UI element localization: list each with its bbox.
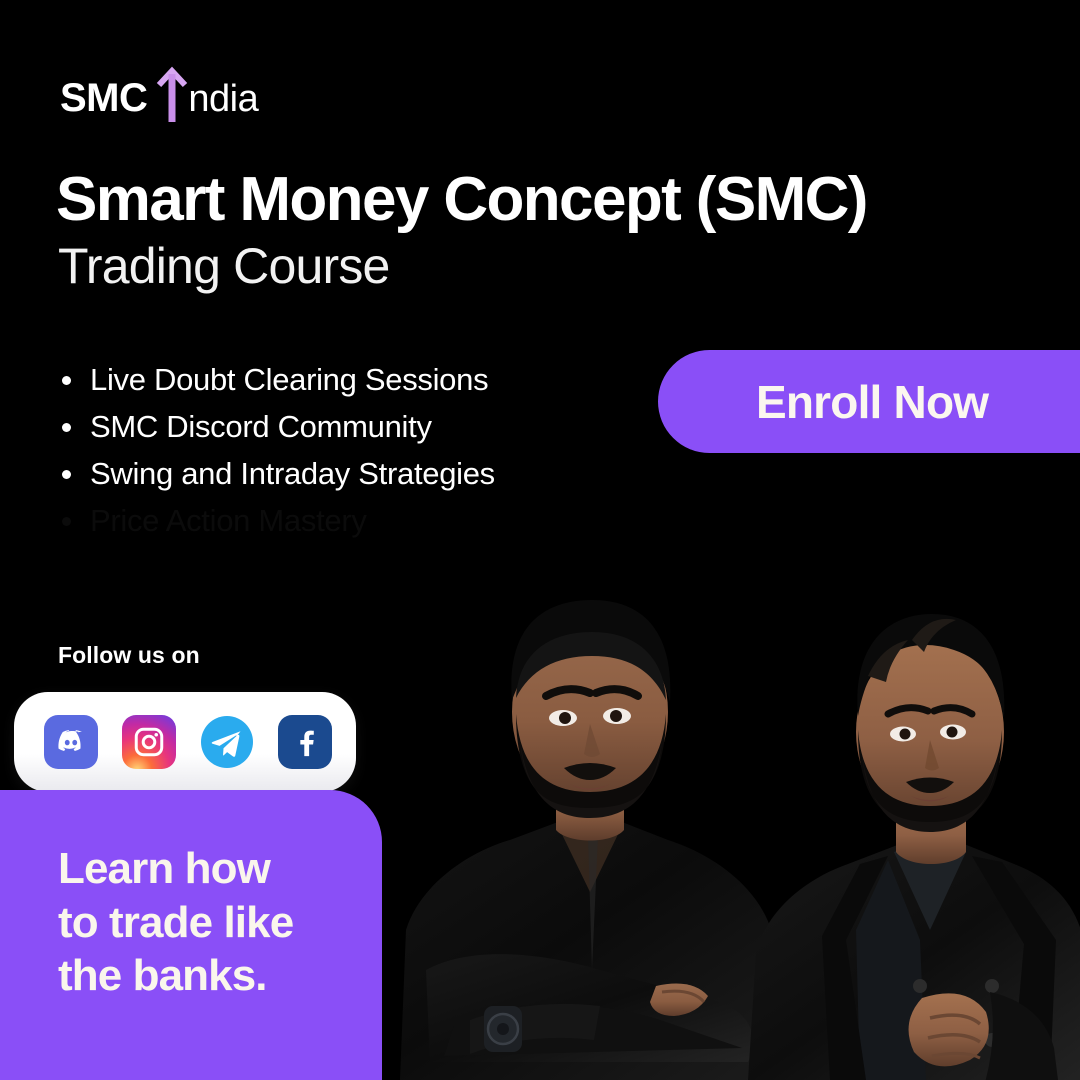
- poster-canvas: SMC ndia: [0, 0, 1080, 1080]
- logo-text-smc: SMC: [60, 78, 147, 118]
- discord-icon[interactable]: [44, 715, 98, 769]
- page-subtitle: Trading Course: [58, 238, 1036, 296]
- mentors-photo: [360, 500, 1080, 1080]
- headline-block: Smart Money Concept (SMC) Trading Course: [56, 168, 1036, 296]
- up-arrow-icon: [155, 64, 189, 126]
- logo-text-india: ndia: [188, 80, 258, 118]
- list-item: Swing and Intraday Strategies: [58, 450, 618, 497]
- brand-logo[interactable]: SMC ndia: [60, 58, 258, 118]
- tagline-line-3: the banks.: [58, 949, 382, 1003]
- tagline-line-1: Learn how: [58, 842, 382, 896]
- telegram-icon[interactable]: [200, 715, 254, 769]
- list-item: Live Doubt Clearing Sessions: [58, 356, 618, 403]
- tagline-line-2: to trade like: [58, 896, 382, 950]
- instagram-icon[interactable]: [122, 715, 176, 769]
- follow-us-label: Follow us on: [58, 642, 200, 669]
- feature-list: Live Doubt Clearing Sessions SMC Discord…: [58, 356, 618, 544]
- wristwatch: [484, 1006, 522, 1052]
- enroll-now-button[interactable]: Enroll Now: [658, 350, 1080, 453]
- list-item: SMC Discord Community: [58, 403, 618, 450]
- social-links-bar: [14, 692, 356, 792]
- tagline-card: Learn how to trade like the banks.: [0, 790, 382, 1080]
- page-title: Smart Money Concept (SMC): [56, 168, 1036, 232]
- list-item: Price Action Mastery: [58, 497, 618, 544]
- facebook-icon[interactable]: [278, 715, 332, 769]
